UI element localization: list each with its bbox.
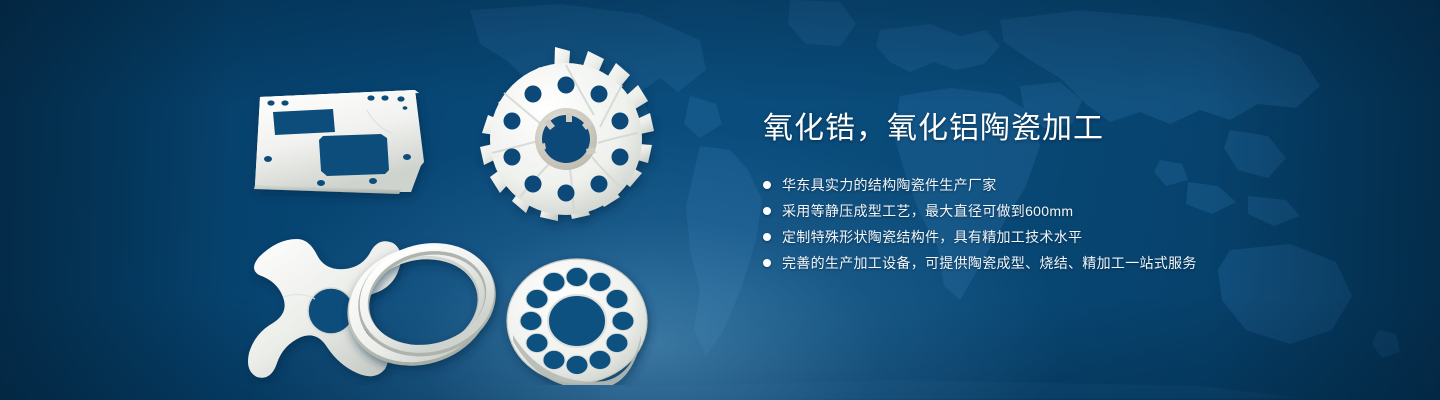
hero-banner: 氧化锆，氧化铝陶瓷加工 华东具实力的结构陶瓷件生产厂家 采用等静压成型工艺，最大… <box>0 0 1440 400</box>
bullet-dot-icon <box>763 207 771 215</box>
ceramic-plate-shape <box>254 90 424 194</box>
ceramic-perforated-disc-shape <box>507 259 647 385</box>
list-item: 完善的生产加工设备，可提供陶瓷成型、烧结、精加工一站式服务 <box>763 252 1383 274</box>
list-item-label: 采用等静压成型工艺，最大直径可做到600mm <box>782 200 1073 222</box>
list-item-label: 完善的生产加工设备，可提供陶瓷成型、烧结、精加工一站式服务 <box>782 252 1197 274</box>
list-item: 采用等静压成型工艺，最大直径可做到600mm <box>763 200 1383 222</box>
ceramic-products-photo <box>215 40 715 380</box>
page-title: 氧化锆，氧化铝陶瓷加工 <box>763 108 1383 150</box>
ceramic-impeller-shape <box>480 47 654 221</box>
list-item: 定制特殊形状陶瓷结构件，具有精加工技术水平 <box>763 226 1383 248</box>
bullet-dot-icon <box>763 259 771 267</box>
banner-copy: 氧化锆，氧化铝陶瓷加工 华东具实力的结构陶瓷件生产厂家 采用等静压成型工艺，最大… <box>763 108 1383 278</box>
feature-list: 华东具实力的结构陶瓷件生产厂家 采用等静压成型工艺，最大直径可做到600mm 定… <box>763 174 1383 274</box>
bullet-dot-icon <box>763 181 771 189</box>
list-item: 华东具实力的结构陶瓷件生产厂家 <box>763 174 1383 196</box>
list-item-label: 华东具实力的结构陶瓷件生产厂家 <box>782 174 997 196</box>
list-item-label: 定制特殊形状陶瓷结构件，具有精加工技术水平 <box>782 226 1082 248</box>
bullet-dot-icon <box>763 233 771 241</box>
